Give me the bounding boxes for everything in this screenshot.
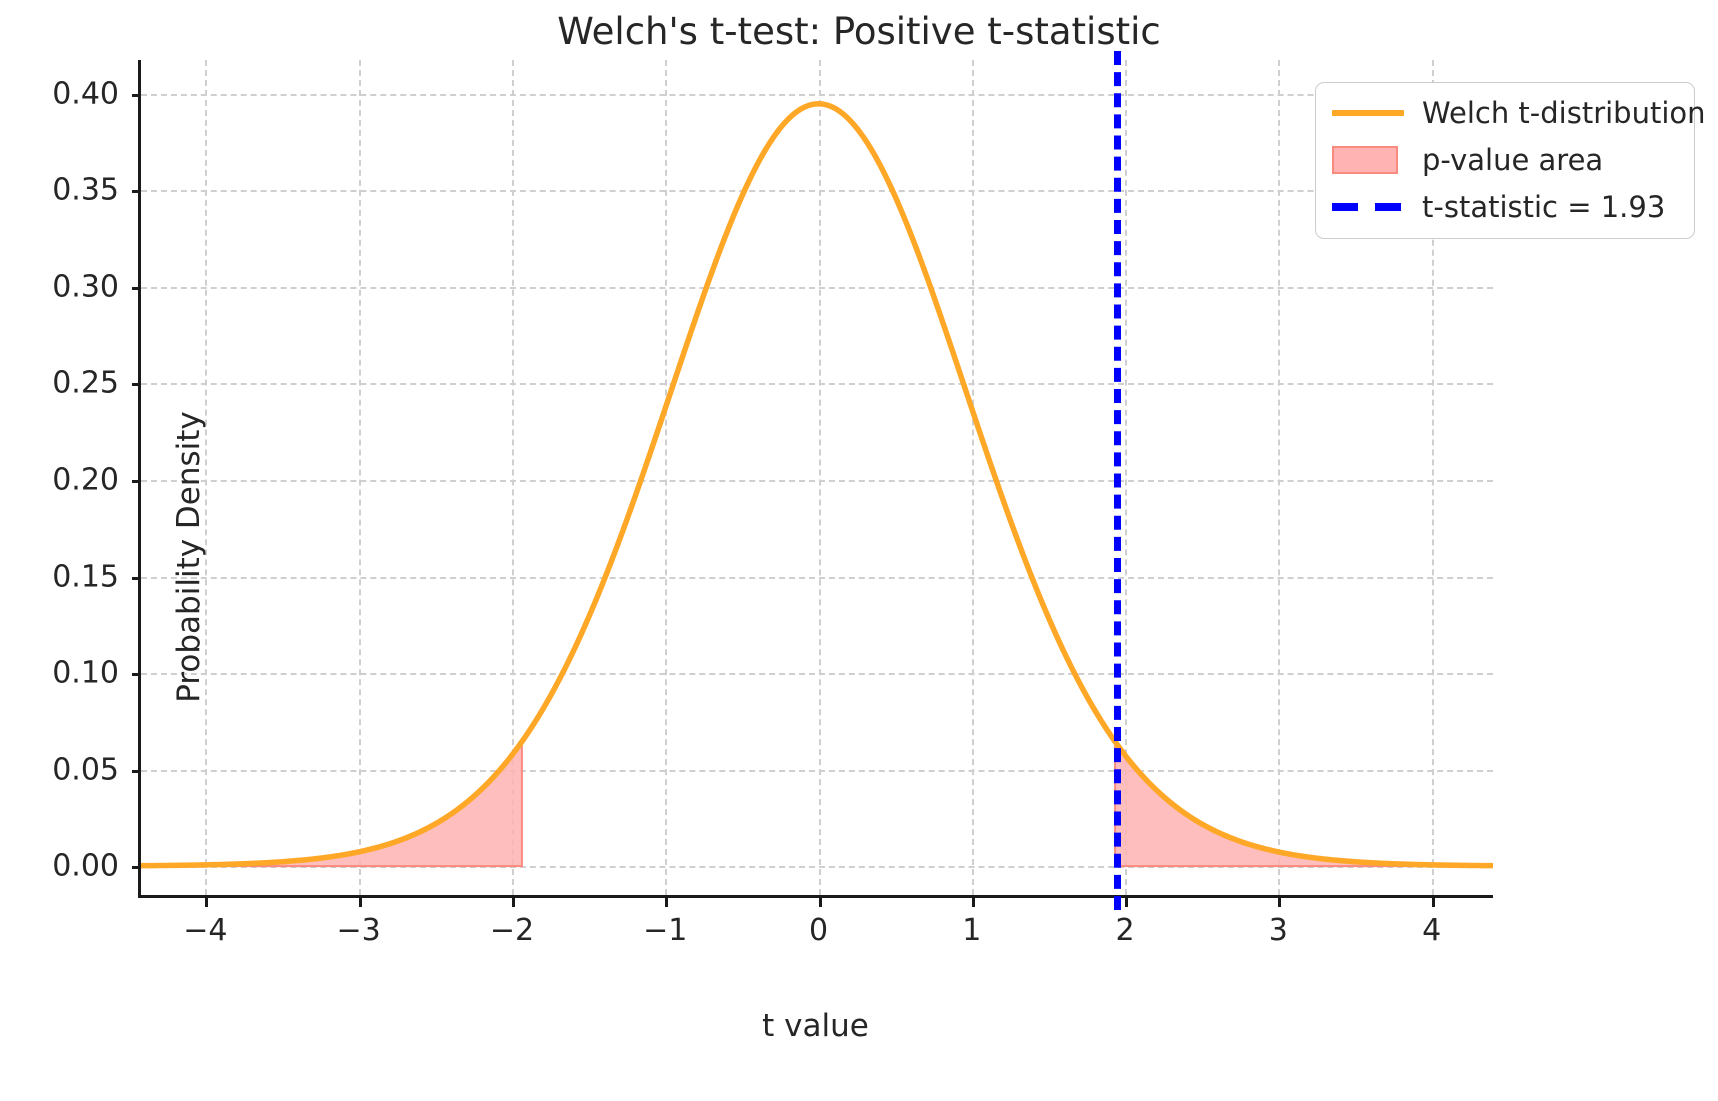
x-tick	[1278, 898, 1281, 907]
y-tick	[132, 480, 141, 483]
chart-title: Welch's t-test: Positive t-statistic	[0, 10, 1718, 53]
x-tick-label: 0	[809, 913, 828, 948]
y-tick	[132, 94, 141, 97]
y-tick-label: 0.10	[52, 656, 119, 691]
patch-swatch-icon	[1332, 147, 1404, 173]
y-tick	[132, 673, 141, 676]
plot-area: −4−3−2−101234 0.000.050.100.150.200.250.…	[138, 60, 1493, 898]
y-tick-label: 0.20	[52, 462, 119, 497]
x-tick-label: 1	[962, 913, 981, 948]
y-tick	[132, 577, 141, 580]
y-tick	[132, 770, 141, 773]
legend-label-t-statistic: t-statistic = 1.93	[1422, 193, 1665, 222]
legend-label-welch-t-distribution: Welch t-distribution	[1422, 99, 1706, 128]
x-tick-label: 2	[1116, 913, 1135, 948]
x-tick	[1125, 898, 1128, 907]
x-tick	[972, 898, 975, 907]
x-tick	[1432, 898, 1435, 907]
x-tick-label: −4	[183, 913, 227, 948]
y-tick	[132, 383, 141, 386]
y-tick-label: 0.40	[52, 76, 119, 111]
dashed-line-swatch-icon	[1332, 194, 1404, 220]
chart-figure: Welch's t-test: Positive t-statistic −4−…	[0, 0, 1718, 1101]
x-axis-label: t value	[138, 1008, 1493, 1044]
y-tick-label: 0.25	[52, 366, 119, 401]
y-axis-label: Probability Density	[171, 357, 207, 757]
x-tick	[359, 898, 362, 907]
plot-inner	[141, 60, 1493, 895]
x-tick	[512, 898, 515, 907]
distribution-curve-layer	[141, 60, 1493, 895]
y-tick-label: 0.15	[52, 559, 119, 594]
x-tick-label: −3	[337, 913, 381, 948]
legend-item-p-value-area: p-value area	[1332, 143, 1678, 177]
welch-t-distribution-curve	[141, 104, 1493, 866]
x-tick-label: 3	[1269, 913, 1288, 948]
y-tick	[132, 190, 141, 193]
legend-item-t-statistic: t-statistic = 1.93	[1332, 190, 1678, 224]
y-tick-label: 0.30	[52, 269, 119, 304]
legend-label-p-value-area: p-value area	[1422, 146, 1603, 175]
t-statistic-vertical-line	[1114, 51, 1121, 910]
x-tick	[665, 898, 668, 907]
x-tick-label: −2	[490, 913, 534, 948]
x-tick-label: −1	[643, 913, 687, 948]
y-tick-label: 0.00	[52, 849, 119, 884]
x-tick-label: 4	[1422, 913, 1441, 948]
y-tick-label: 0.05	[52, 752, 119, 787]
y-tick	[132, 866, 141, 869]
x-tick	[205, 898, 208, 907]
legend-item-welch-t-distribution: Welch t-distribution	[1332, 96, 1678, 130]
y-tick-label: 0.35	[52, 173, 119, 208]
chart-legend: Welch t-distribution p-value area t-stat…	[1315, 82, 1695, 239]
line-swatch-icon	[1332, 100, 1404, 126]
x-tick	[819, 898, 822, 907]
y-tick	[132, 287, 141, 290]
